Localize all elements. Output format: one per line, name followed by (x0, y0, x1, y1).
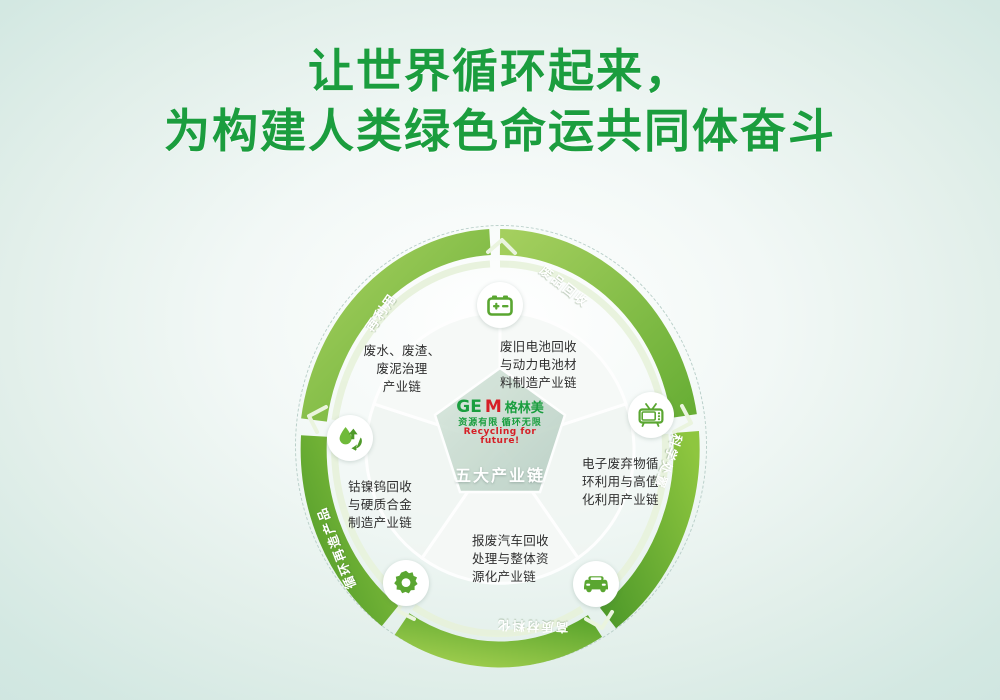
gear-icon (393, 570, 419, 596)
poster-canvas: 让世界循环起来， 为构建人类绿色命运共同体奋斗 (0, 0, 1000, 700)
logo-gem-text: GE (456, 399, 482, 416)
center-title: 五大产业链 (455, 462, 545, 486)
page-title: 让世界循环起来， 为构建人类绿色命运共同体奋斗 (0, 42, 1000, 162)
icon-bubble-e-waste (628, 392, 674, 438)
battery-icon (487, 294, 513, 316)
icon-bubble-auto (573, 561, 619, 607)
chain-label-wastewater: 废水、废渣、 废泥治理 产业链 (350, 342, 454, 396)
circular-economy-diagram: GEM 格林美 资源有限 循环无限 Recycling for future! … (290, 220, 710, 680)
logo-m-mark: M (485, 399, 502, 416)
gem-logo: GEM 格林美 资源有限 循环无限 Recycling for future! (448, 399, 552, 446)
recycle-drop-icon (337, 425, 364, 451)
logo-chinese-name: 格林美 (505, 401, 544, 414)
chain-label-battery: 废旧电池回收 与动力电池材 料制造产业链 (500, 338, 600, 392)
logo-tagline-en: Recycling for future! (448, 428, 552, 446)
ring-label-material: 高质材料化 (496, 616, 569, 638)
car-icon (582, 574, 610, 594)
icon-bubble-battery (477, 282, 523, 328)
chain-label-auto: 报废汽车回收 处理与整体资 源化产业链 (472, 532, 572, 586)
title-line-2: 为构建人类绿色命运共同体奋斗 (0, 102, 1000, 162)
logo-tagline-cn: 资源有限 循环无限 (448, 418, 552, 427)
television-icon (638, 402, 664, 428)
chain-label-cobalt: 钴镍钨回收 与硬质合金 制造产业链 (348, 478, 448, 532)
title-line-1: 让世界循环起来， (0, 42, 1000, 102)
icon-bubble-wastewater (327, 415, 373, 461)
icon-bubble-cobalt (383, 560, 429, 606)
